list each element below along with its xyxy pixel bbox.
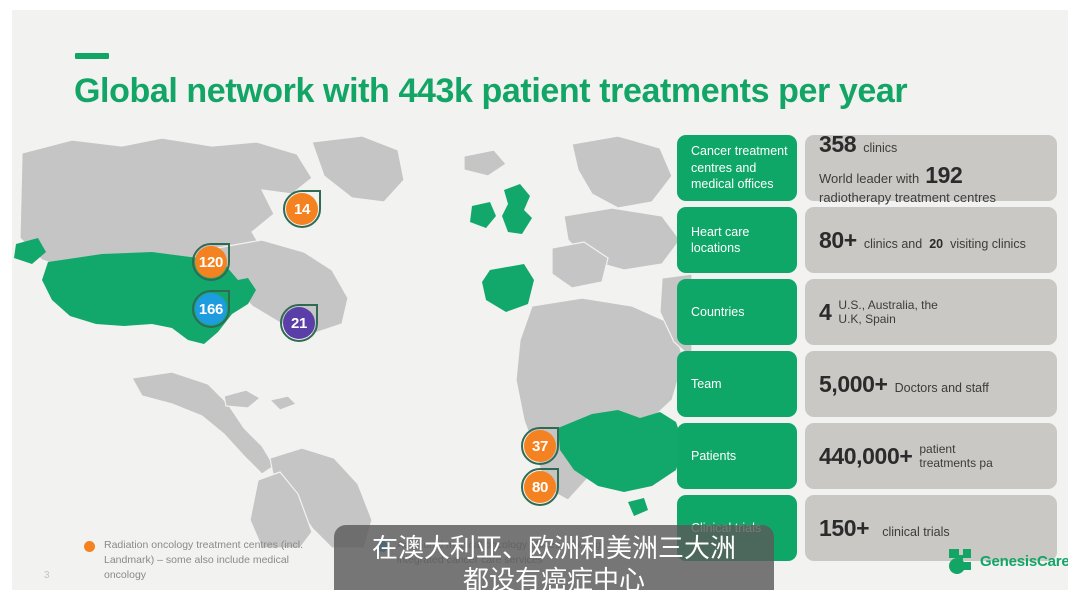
stat-label: Countries	[677, 279, 797, 345]
legend-label: Radiation oncology treatment centres (in…	[104, 538, 319, 583]
stat-label: Team	[677, 351, 797, 417]
subtitle-overlay: 在澳大利亚、欧洲和美洲三大洲 都设有癌症中心	[334, 525, 774, 590]
stat-row-patients: Patients 440,000+ patient treatments pa	[677, 423, 1057, 489]
marker-value: 80	[524, 471, 556, 503]
stat-detail-line1: patient	[919, 442, 992, 456]
stat-row-countries: Countries 4 U.S., Australia, the U.K, Sp…	[677, 279, 1057, 345]
marker-australia-37[interactable]: 37	[521, 427, 559, 465]
stat-primary-number: 150+	[819, 515, 869, 542]
marker-value: 166	[195, 293, 227, 325]
slide: Global network with 443k patient treatme…	[12, 10, 1068, 590]
stat-extra-unit: visiting clinics	[950, 237, 1026, 251]
stat-detail-line2: treatments pa	[919, 456, 992, 470]
marker-usa-blue[interactable]: 166	[192, 290, 230, 328]
marker-usa-orange[interactable]: 120	[192, 243, 230, 281]
marker-value: 120	[195, 246, 227, 278]
page-title: Global network with 443k patient treatme…	[74, 72, 1034, 111]
stat-label: Heart care locations	[677, 207, 797, 273]
subtitle-line-1: 在澳大利亚、欧洲和美洲三大洲	[344, 533, 764, 565]
stat-primary-unit: clinics and	[864, 237, 922, 251]
logo-text: GenesisCare	[980, 553, 1068, 570]
stat-primary-unit: clinical trials	[882, 525, 949, 539]
stat-secondary-suffix: radiotherapy treatment centres	[819, 190, 1043, 205]
marker-uk-north[interactable]: 14	[283, 190, 321, 228]
stat-primary-unit: Doctors and staff	[895, 381, 989, 395]
stat-primary-number: 5,000+	[819, 371, 888, 398]
subtitle-line-2: 都设有癌症中心	[344, 565, 764, 590]
stat-primary-number: 80+	[819, 227, 857, 254]
marker-spain[interactable]: 21	[280, 304, 318, 342]
stat-value: 440,000+ patient treatments pa	[805, 423, 1057, 489]
genesiscare-logo: GenesisCare	[946, 546, 1068, 576]
stat-secondary-number: 192	[925, 162, 962, 189]
stat-label: Cancer treatment centres and medical off…	[677, 135, 797, 201]
stat-secondary-prefix: World leader with	[819, 171, 919, 186]
stat-primary-number: 440,000+	[819, 443, 912, 470]
stat-primary-number: 358	[819, 131, 856, 158]
marker-value: 14	[286, 193, 318, 225]
stat-primary-number: 4	[819, 299, 831, 326]
page-number: 3	[44, 570, 50, 581]
legend-dot-orange-icon	[84, 541, 95, 552]
marker-value: 21	[283, 307, 315, 339]
world-map	[12, 128, 692, 548]
map-landmasses	[20, 136, 692, 548]
stats-panel: Cancer treatment centres and medical off…	[677, 135, 1057, 567]
genesiscare-mark-icon	[946, 546, 976, 576]
stat-value: 358 clinics World leader with 192 radiot…	[805, 135, 1057, 201]
marker-value: 37	[524, 430, 556, 462]
stat-row-cancer-centres: Cancer treatment centres and medical off…	[677, 135, 1057, 201]
stat-label: Patients	[677, 423, 797, 489]
stat-value: 5,000+ Doctors and staff	[805, 351, 1057, 417]
stat-row-team: Team 5,000+ Doctors and staff	[677, 351, 1057, 417]
stat-value: 80+ clinics and 20 visiting clinics	[805, 207, 1057, 273]
title-accent-dash	[75, 53, 109, 59]
stat-value: 4 U.S., Australia, the U.K, Spain	[805, 279, 1057, 345]
marker-australia-80[interactable]: 80	[521, 468, 559, 506]
stat-primary-unit: clinics	[863, 141, 897, 155]
legend-item-radiation-oncology: Radiation oncology treatment centres (in…	[84, 538, 319, 583]
stat-row-heart-care: Heart care locations 80+ clinics and 20 …	[677, 207, 1057, 273]
stat-extra-number: 20	[929, 237, 943, 251]
stat-detail-line1: U.S., Australia, the	[838, 298, 937, 312]
stat-detail-line2: U.K, Spain	[838, 312, 937, 326]
